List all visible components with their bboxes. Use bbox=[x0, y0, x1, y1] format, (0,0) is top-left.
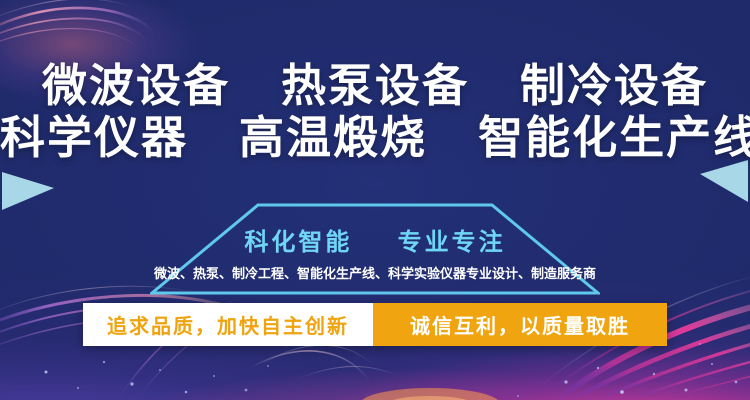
headline-item-scientific-instruments: 科学仪器 bbox=[0, 112, 188, 163]
headline-item-heatpump: 热泵设备 bbox=[281, 60, 469, 111]
slogan-right: 专业专注 bbox=[398, 229, 506, 256]
headline-item-refrigeration: 制冷设备 bbox=[520, 60, 708, 111]
cta-primary-button[interactable]: 追求品质，加快自主创新 bbox=[83, 303, 373, 346]
headline-item-microwave: 微波设备 bbox=[42, 60, 230, 111]
right-triangle-accent-icon bbox=[700, 160, 748, 202]
left-triangle-accent-icon bbox=[2, 172, 54, 210]
cta-bar: 追求品质，加快自主创新 诚信互利，以质量取胜 bbox=[83, 303, 667, 346]
headline-item-high-temp-calcination: 高温煅烧 bbox=[239, 112, 427, 163]
headline-line-1: 微波设备 热泵设备 制冷设备 bbox=[0, 60, 750, 112]
cta-secondary-button[interactable]: 诚信互利，以质量取胜 bbox=[373, 303, 667, 346]
headline-line-2: 科学仪器 高温煅烧 智能化生产线 bbox=[0, 112, 750, 164]
slogan: 科化智能 专业专注 bbox=[0, 222, 750, 257]
slogan-left: 科化智能 bbox=[244, 229, 352, 256]
headline-item-smart-production-line: 智能化生产线 bbox=[478, 112, 750, 163]
headline: 微波设备 热泵设备 制冷设备 科学仪器 高温煅烧 智能化生产线 bbox=[0, 60, 750, 164]
promotional-banner: 微波设备 热泵设备 制冷设备 科学仪器 高温煅烧 智能化生产线 科化智能 专业专… bbox=[0, 0, 750, 400]
description-text: 微波、热泵、制冷工程、智能化生产线、科学实验仪器专业设计、制造服务商 bbox=[0, 263, 750, 282]
